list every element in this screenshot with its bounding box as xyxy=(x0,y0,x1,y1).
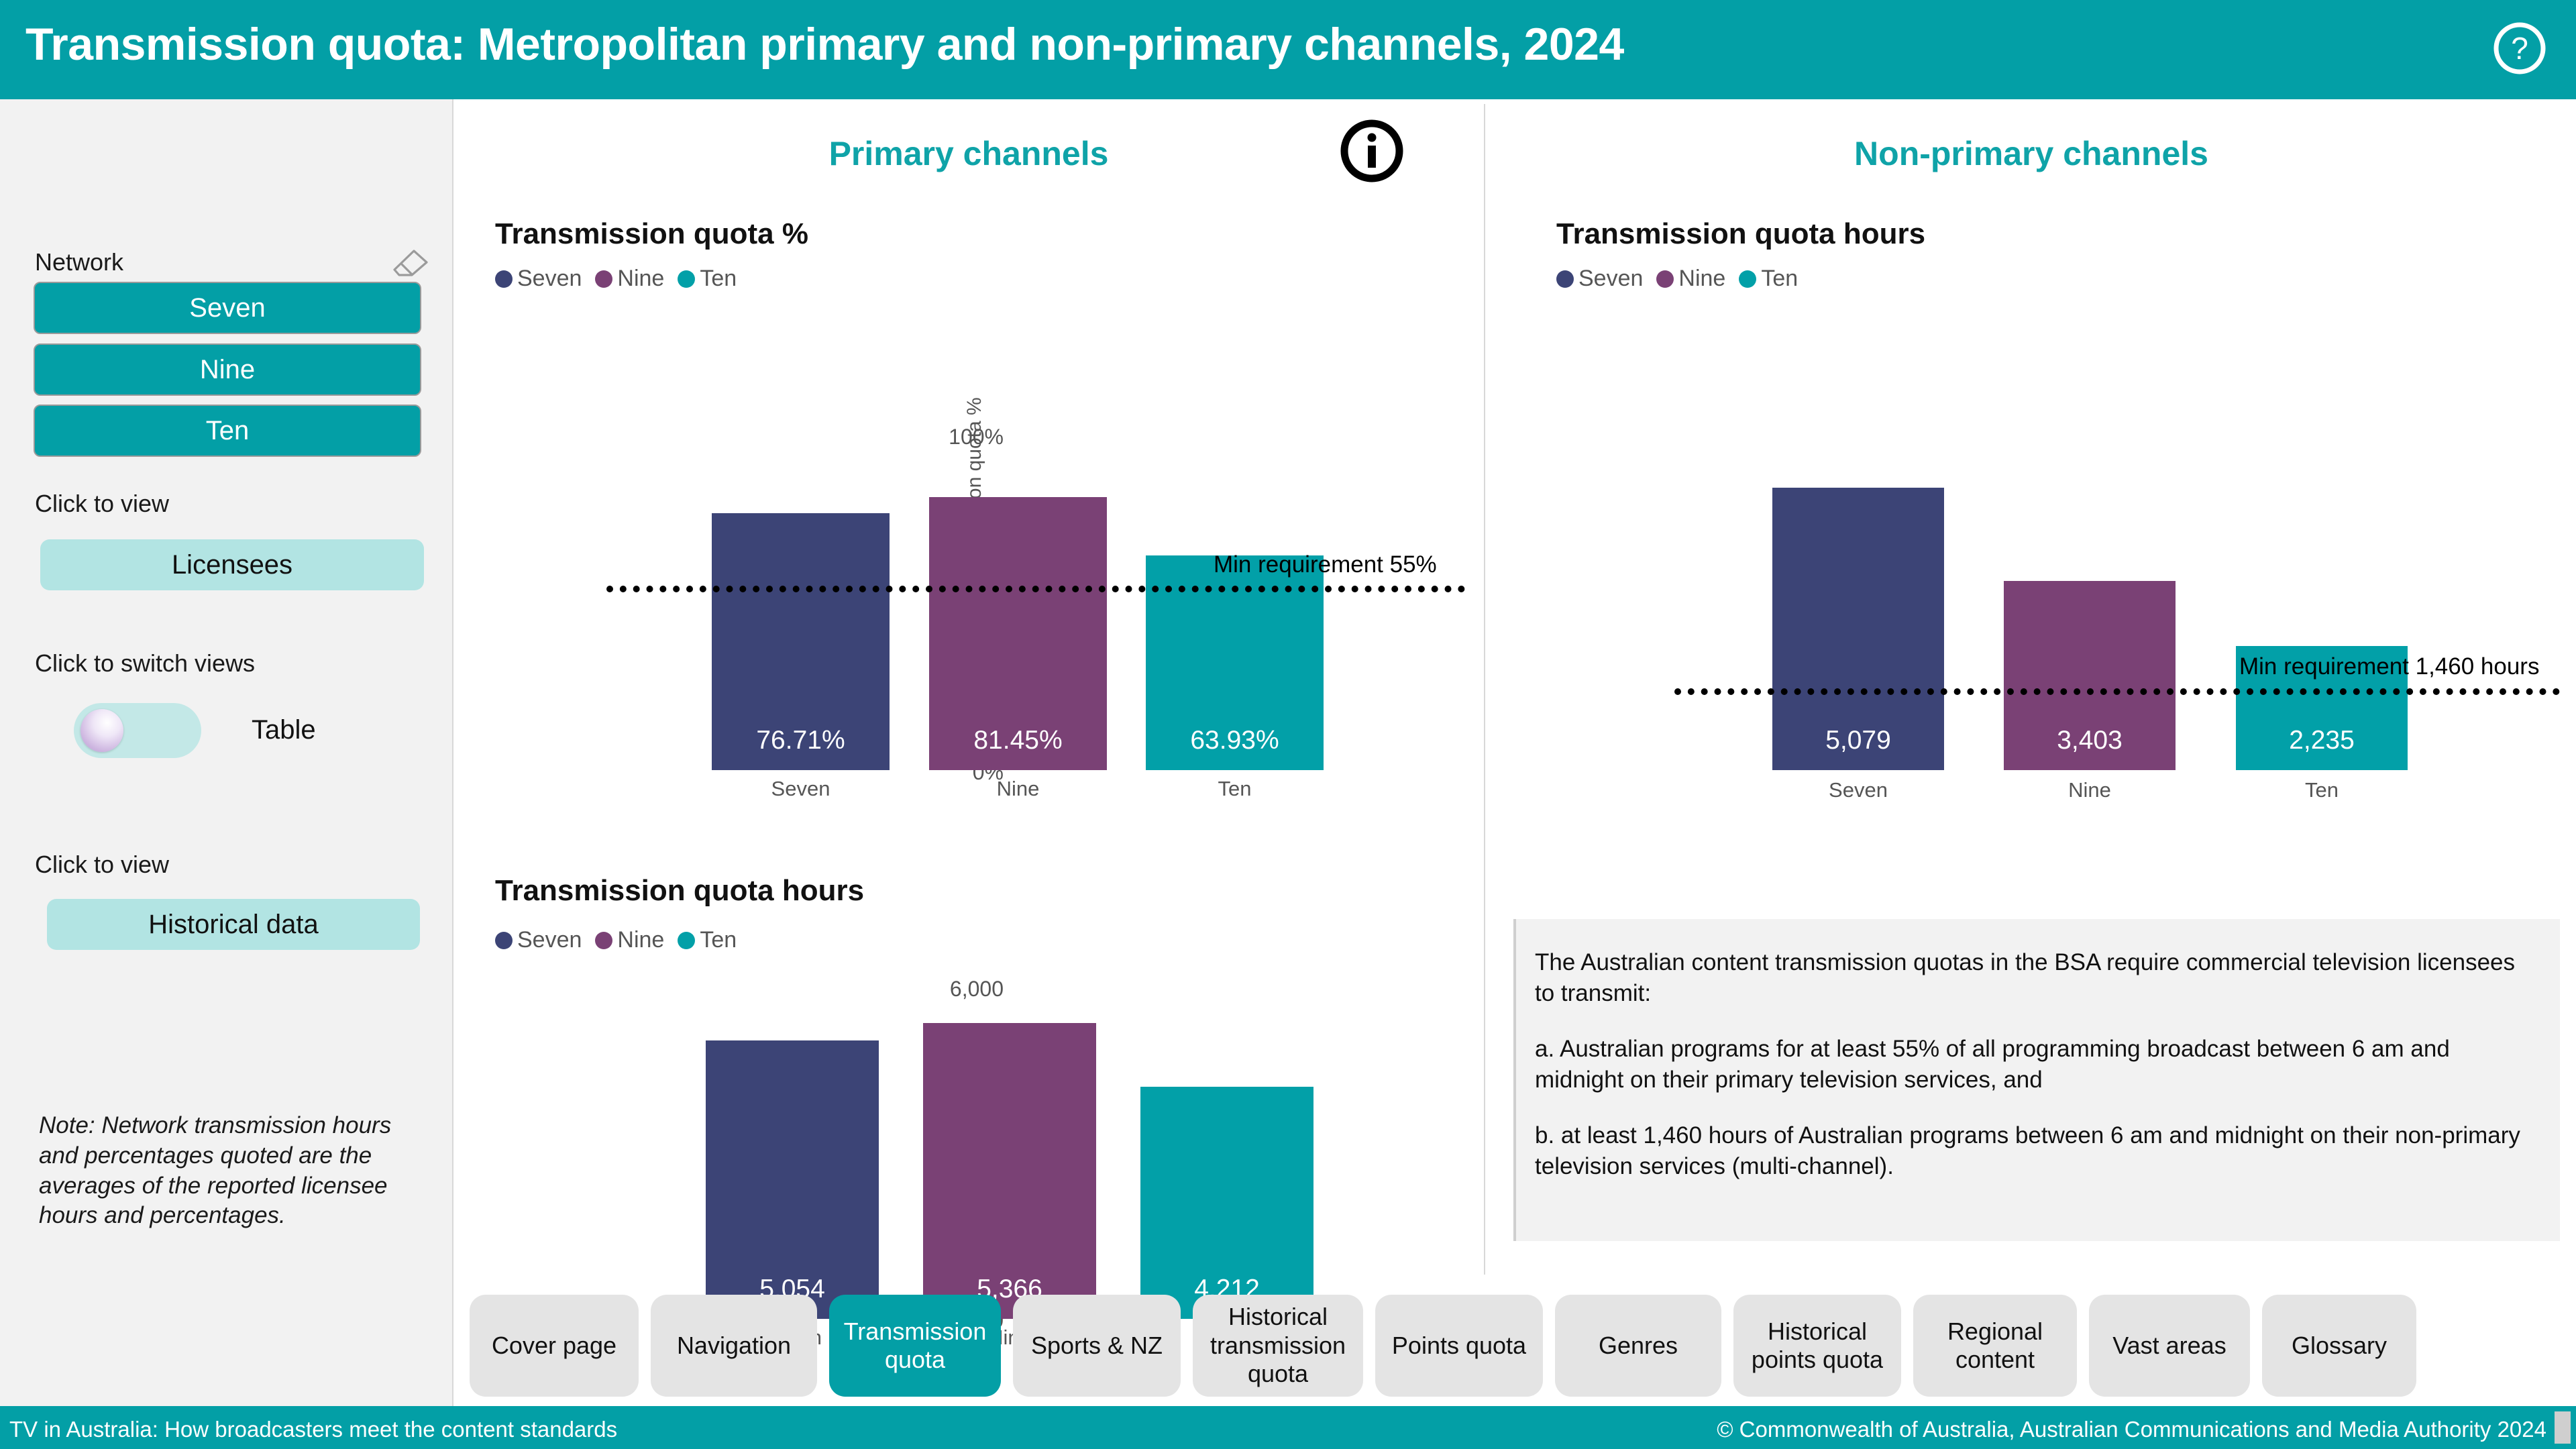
primary-channels-heading: Primary channels xyxy=(453,134,1484,173)
primary-channels-panel: Primary channels Transmission quota % Se… xyxy=(453,99,1484,1275)
chart1-bar-value: 63.93% xyxy=(1146,726,1324,755)
chart1-legend: Seven Nine Ten xyxy=(495,266,750,292)
tab-cover-page[interactable]: Cover page xyxy=(470,1295,639,1397)
network-button-label: Ten xyxy=(206,416,250,446)
chart3-category-ten: Ten xyxy=(2236,778,2408,802)
click-to-view-label-1: Click to view xyxy=(35,490,169,518)
historical-data-button[interactable]: Historical data xyxy=(47,899,420,950)
info-paragraph-intro: The Australian content transmission quot… xyxy=(1535,947,2540,1008)
chart2-legend: Seven Nine Ten xyxy=(495,927,750,953)
licensees-button-label: Licensees xyxy=(172,550,292,580)
legend-item-nine: Nine xyxy=(595,927,664,953)
app-header: Transmission quota: Metropolitan primary… xyxy=(0,0,2576,99)
tab-label: Sports & NZ xyxy=(1031,1332,1163,1360)
chart3-legend: Seven Nine Ten xyxy=(1556,266,1811,292)
tab-historical-points-quota[interactable]: Historical points quota xyxy=(1733,1295,1901,1397)
legend-label: Nine xyxy=(1678,266,1725,292)
tab-label: Historical transmission quota xyxy=(1207,1303,1348,1388)
tab-label: Vast areas xyxy=(2112,1332,2226,1360)
bottom-tab-bar: Cover page Navigation Transmission quota… xyxy=(470,1295,2563,1402)
nonprimary-channels-heading: Non-primary channels xyxy=(1487,134,2576,173)
chart2-ytick-6000: 6,000 xyxy=(916,977,1004,1002)
legend-dot-ten xyxy=(678,270,695,288)
legend-dot-nine xyxy=(595,932,612,949)
legend-item-seven: Seven xyxy=(495,266,582,292)
legend-label: Nine xyxy=(617,266,664,292)
tab-sports-and-nz[interactable]: Sports & NZ xyxy=(1013,1295,1181,1397)
chart1-ytick-100: 100% xyxy=(923,425,1004,449)
panel-divider xyxy=(1484,104,1485,1275)
page-title: Transmission quota: Metropolitan primary… xyxy=(25,18,1624,70)
chart1-bar-value: 81.45% xyxy=(929,726,1107,755)
tab-navigation[interactable]: Navigation xyxy=(651,1295,817,1397)
network-button-ten[interactable]: Ten xyxy=(34,405,421,457)
footer-subtitle: TV in Australia: How broadcasters meet t… xyxy=(9,1417,617,1442)
tab-label: Glossary xyxy=(2292,1332,2387,1360)
click-to-view-label-2: Click to view xyxy=(35,851,169,879)
tab-label: Points quota xyxy=(1392,1332,1526,1360)
legend-item-nine: Nine xyxy=(1656,266,1725,292)
network-button-label: Seven xyxy=(189,293,265,323)
legend-item-seven: Seven xyxy=(1556,266,1643,292)
legend-label: Seven xyxy=(517,266,582,292)
info-paragraph-a: a. Australian programs for at least 55% … xyxy=(1535,1034,2540,1095)
chart1-bar-nine[interactable]: 81.45% xyxy=(929,497,1107,770)
tab-label: Genres xyxy=(1599,1332,1678,1360)
legend-item-ten: Ten xyxy=(678,266,737,292)
chart2-bar-seven[interactable]: 5,054 xyxy=(706,1040,879,1319)
historical-data-button-label: Historical data xyxy=(148,910,318,940)
tab-vast-areas[interactable]: Vast areas xyxy=(2089,1295,2250,1397)
tab-points-quota[interactable]: Points quota xyxy=(1375,1295,1543,1397)
chart1-category-seven: Seven xyxy=(712,777,890,801)
network-button-nine[interactable]: Nine xyxy=(34,343,421,396)
chart3-threshold-label: Min requirement 1,460 hours xyxy=(2239,653,2539,680)
tab-transmission-quota[interactable]: Transmission quota xyxy=(829,1295,1001,1397)
dashboard-page: Transmission quota: Metropolitan primary… xyxy=(0,0,2576,1449)
legend-item-nine: Nine xyxy=(595,266,664,292)
legend-dot-seven xyxy=(495,932,513,949)
chart1-category-ten: Ten xyxy=(1146,777,1324,801)
info-circle-icon[interactable] xyxy=(1335,114,1409,188)
tab-label: Regional content xyxy=(1928,1318,2062,1375)
footer-bar: TV in Australia: How broadcasters meet t… xyxy=(0,1406,2576,1449)
legend-dot-seven xyxy=(1556,270,1574,288)
eraser-icon[interactable] xyxy=(392,248,429,278)
legend-dot-nine xyxy=(1656,270,1674,288)
legend-label: Seven xyxy=(1578,266,1643,292)
footer-resize-handle[interactable] xyxy=(2555,1411,2571,1444)
click-to-switch-views-label: Click to switch views xyxy=(35,649,255,678)
tab-label: Historical points quota xyxy=(1748,1318,1886,1375)
tab-label: Transmission quota xyxy=(844,1318,987,1375)
legend-label: Ten xyxy=(700,266,737,292)
legend-dot-nine xyxy=(595,270,612,288)
table-view-toggle[interactable] xyxy=(74,703,201,758)
network-button-label: Nine xyxy=(200,355,255,385)
network-label: Network xyxy=(35,248,123,276)
chart3-category-seven: Seven xyxy=(1772,778,1944,802)
tab-label: Navigation xyxy=(677,1332,791,1360)
tab-genres[interactable]: Genres xyxy=(1555,1295,1721,1397)
tab-historical-transmission-quota[interactable]: Historical transmission quota xyxy=(1193,1295,1363,1397)
chart3-bar-value: 2,235 xyxy=(2236,726,2408,755)
chart3-threshold-line xyxy=(1674,688,2560,695)
legend-item-ten: Ten xyxy=(678,927,737,953)
chart3-bar-nine[interactable]: 3,403 xyxy=(2004,581,2176,770)
chart1-threshold-label: Min requirement 55% xyxy=(1214,551,1437,578)
tab-label: Cover page xyxy=(492,1332,616,1360)
licensees-button[interactable]: Licensees xyxy=(40,539,424,590)
chart3-bar-value: 5,079 xyxy=(1772,726,1944,755)
chart3-bar-value: 3,403 xyxy=(2004,726,2176,755)
legend-label: Ten xyxy=(1761,266,1798,292)
chart2-bar-ten[interactable]: 4,212 xyxy=(1140,1087,1313,1319)
help-circle-icon[interactable]: ? xyxy=(2490,19,2549,78)
legend-dot-ten xyxy=(678,932,695,949)
info-paragraph-b: b. at least 1,460 hours of Australian pr… xyxy=(1535,1120,2540,1181)
chart3-bar-seven[interactable]: 5,079 xyxy=(1772,488,1944,770)
chart1-title: Transmission quota % xyxy=(495,217,808,251)
chart3-title: Transmission quota hours xyxy=(1556,217,1925,251)
sidebar-note: Note: Network transmission hours and per… xyxy=(39,1111,421,1231)
chart1-threshold-line xyxy=(606,586,1465,592)
tab-regional-content[interactable]: Regional content xyxy=(1913,1295,2077,1397)
tab-glossary[interactable]: Glossary xyxy=(2262,1295,2416,1397)
svg-text:?: ? xyxy=(2511,31,2528,66)
chart1-bar-seven[interactable]: 76.71% xyxy=(712,513,890,770)
legend-item-seven: Seven xyxy=(495,927,582,953)
toggle-knob xyxy=(80,709,123,752)
legend-item-ten: Ten xyxy=(1739,266,1798,292)
toggle-caption: Table xyxy=(252,715,316,745)
footer-copyright: © Commonwealth of Australia, Australian … xyxy=(1717,1417,2546,1442)
legend-dot-ten xyxy=(1739,270,1756,288)
quota-info-box: The Australian content transmission quot… xyxy=(1513,919,2560,1241)
legend-label: Nine xyxy=(617,927,664,953)
sidebar: Network Seven Nine Ten Click to view Lic… xyxy=(0,99,453,1422)
legend-label: Seven xyxy=(517,927,582,953)
legend-label: Ten xyxy=(700,927,737,953)
chart2-title: Transmission quota hours xyxy=(495,874,864,908)
chart2-bar-nine[interactable]: 5,366 xyxy=(923,1023,1096,1319)
legend-dot-seven xyxy=(495,270,513,288)
network-button-seven[interactable]: Seven xyxy=(34,282,421,334)
chart3-category-nine: Nine xyxy=(2004,778,2176,802)
chart1-category-nine: Nine xyxy=(929,777,1107,801)
chart1-bar-value: 76.71% xyxy=(712,726,890,755)
